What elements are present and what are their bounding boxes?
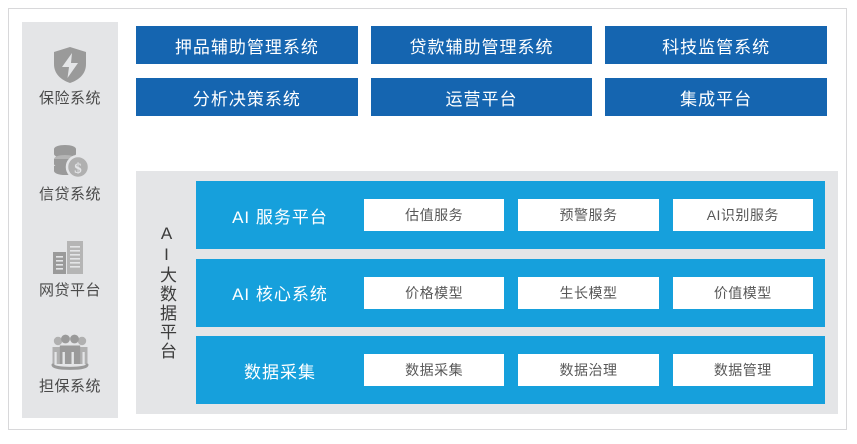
sidebar-item-guarantee[interactable]: 担保系统 xyxy=(22,318,118,410)
architecture-diagram: 保险系统 $ 信贷系统 xyxy=(0,0,857,444)
platform-rows: AI 服务平台 估值服务 预警服务 AI识别服务 AI 核心系统 价格模型 生长… xyxy=(196,181,825,404)
platform-row-chips: 数据采集 数据治理 数据管理 xyxy=(364,354,813,386)
chip-data-management[interactable]: 数据管理 xyxy=(673,354,813,386)
sidebar-item-insurance[interactable]: 保险系统 xyxy=(22,30,118,122)
platform-row-chips: 估值服务 预警服务 AI识别服务 xyxy=(364,199,813,231)
top-systems: 押品辅助管理系统 贷款辅助管理系统 科技监管系统 分析决策系统 运营平台 集成平… xyxy=(136,26,827,116)
sidebar: 保险系统 $ 信贷系统 xyxy=(22,22,118,418)
sidebar-item-label: 保险系统 xyxy=(39,90,101,108)
platform-vertical-title-text: AI大数据平台 xyxy=(153,224,179,361)
shield-bolt-icon xyxy=(49,44,91,86)
ai-bigdata-platform: AI大数据平台 AI 服务平台 估值服务 预警服务 AI识别服务 AI 核心系统… xyxy=(136,171,838,414)
chip-alert-service[interactable]: 预警服务 xyxy=(518,199,658,231)
system-button-tech-supervision[interactable]: 科技监管系统 xyxy=(605,26,827,64)
platform-row-label: AI 核心系统 xyxy=(196,280,364,305)
system-button-analysis-decision[interactable]: 分析决策系统 xyxy=(136,78,358,116)
platform-row-ai-core: AI 核心系统 价格模型 生长模型 价值模型 xyxy=(196,259,825,327)
chip-valuation-service[interactable]: 估值服务 xyxy=(364,199,504,231)
coins-dollar-icon: $ xyxy=(49,140,91,182)
chip-ai-recognition-service[interactable]: AI识别服务 xyxy=(673,199,813,231)
sidebar-item-online-lending[interactable]: 网贷平台 xyxy=(22,222,118,314)
platform-row-ai-service: AI 服务平台 估值服务 预警服务 AI识别服务 xyxy=(196,181,825,249)
platform-row-label: 数据采集 xyxy=(196,358,364,383)
people-group-icon xyxy=(49,332,91,374)
system-button-integration-platform[interactable]: 集成平台 xyxy=(605,78,827,116)
chip-data-collection[interactable]: 数据采集 xyxy=(364,354,504,386)
platform-row-data-collection: 数据采集 数据采集 数据治理 数据管理 xyxy=(196,336,825,404)
sidebar-item-label: 网贷平台 xyxy=(39,282,101,300)
sidebar-item-label: 担保系统 xyxy=(39,378,101,396)
sidebar-item-credit[interactable]: $ 信贷系统 xyxy=(22,126,118,218)
chip-value-model[interactable]: 价值模型 xyxy=(673,277,813,309)
platform-row-chips: 价格模型 生长模型 价值模型 xyxy=(364,277,813,309)
platform-vertical-title: AI大数据平台 xyxy=(136,181,196,404)
system-button-collateral-aux-mgmt[interactable]: 押品辅助管理系统 xyxy=(136,26,358,64)
svg-text:$: $ xyxy=(74,161,82,177)
chip-growth-model[interactable]: 生长模型 xyxy=(518,277,658,309)
top-systems-row-2: 分析决策系统 运营平台 集成平台 xyxy=(136,78,827,116)
chip-data-governance[interactable]: 数据治理 xyxy=(518,354,658,386)
system-button-loan-aux-mgmt[interactable]: 贷款辅助管理系统 xyxy=(371,26,593,64)
top-systems-row-1: 押品辅助管理系统 贷款辅助管理系统 科技监管系统 xyxy=(136,26,827,64)
sidebar-item-label: 信贷系统 xyxy=(39,186,101,204)
system-button-operations-platform[interactable]: 运营平台 xyxy=(371,78,593,116)
platform-row-label: AI 服务平台 xyxy=(196,203,364,228)
buildings-icon xyxy=(49,236,91,278)
chip-price-model[interactable]: 价格模型 xyxy=(364,277,504,309)
